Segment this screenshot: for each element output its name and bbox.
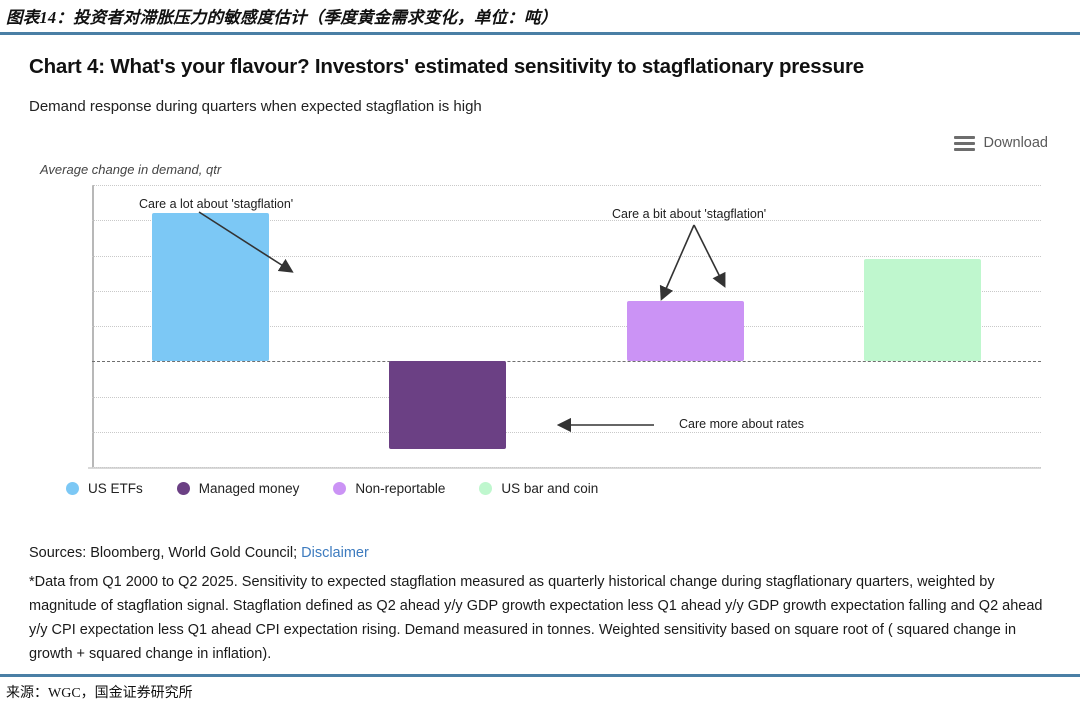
gridline	[92, 397, 1041, 398]
footnote-text: *Data from Q1 2000 to Q2 2025. Sensitivi…	[29, 570, 1053, 666]
chart-title: Chart 4: What's your flavour? Investors'…	[29, 55, 864, 79]
sources-text: Sources: Bloomberg, World Gold Council;	[29, 545, 297, 561]
bar-non-reportable[interactable]	[627, 301, 744, 361]
chart-legend: US ETFsManaged moneyNon-reportableUS bar…	[66, 481, 632, 496]
annotation-care-a-lot: Care a lot about 'stagflation'	[139, 197, 293, 211]
bar-us-bar-and-coin[interactable]	[864, 259, 981, 361]
y-axis-title: Average change in demand, qtr	[40, 162, 221, 177]
legend-item-managed-money[interactable]: Managed money	[177, 481, 300, 496]
legend-swatch-icon	[333, 482, 346, 495]
gridline	[92, 185, 1041, 186]
legend-item-us-etfs[interactable]: US ETFs	[66, 481, 143, 496]
legend-item-non-reportable[interactable]: Non-reportable	[333, 481, 445, 496]
legend-swatch-icon	[66, 482, 79, 495]
report-figure-title: 图表14：投资者对滞胀压力的敏感度估计（季度黄金需求变化，单位：吨）	[6, 4, 1066, 28]
chart-subtitle: Demand response during quarters when exp…	[29, 98, 482, 115]
download-button[interactable]: Download	[954, 135, 1049, 151]
annotation-care-more-about-rates: Care more about rates	[679, 417, 804, 431]
hamburger-menu-icon	[954, 136, 975, 151]
header-divider	[0, 32, 1080, 35]
bar-managed-money[interactable]	[389, 361, 506, 449]
report-source: 来源：WGC，国金证券研究所	[6, 682, 193, 702]
legend-label: US ETFs	[88, 481, 143, 496]
disclaimer-link[interactable]: Disclaimer	[301, 545, 369, 561]
legend-swatch-icon	[177, 482, 190, 495]
sources-line: Sources: Bloomberg, World Gold Council; …	[29, 545, 369, 561]
legend-item-us-bar-and-coin[interactable]: US bar and coin	[479, 481, 598, 496]
footer-divider	[0, 674, 1080, 677]
zero-line	[92, 361, 1041, 362]
download-label: Download	[984, 135, 1049, 151]
chart-card: Chart 4: What's your flavour? Investors'…	[14, 40, 1066, 668]
gridline	[92, 467, 1041, 468]
legend-label: Managed money	[199, 481, 300, 496]
legend-label: US bar and coin	[501, 481, 598, 496]
annotation-care-a-bit: Care a bit about 'stagflation'	[612, 207, 766, 221]
plot-area: 50403020100-10-20-30	[92, 185, 1041, 467]
gridline	[92, 432, 1041, 433]
legend-label: Non-reportable	[355, 481, 445, 496]
legend-swatch-icon	[479, 482, 492, 495]
bar-us-etfs[interactable]	[152, 213, 269, 361]
